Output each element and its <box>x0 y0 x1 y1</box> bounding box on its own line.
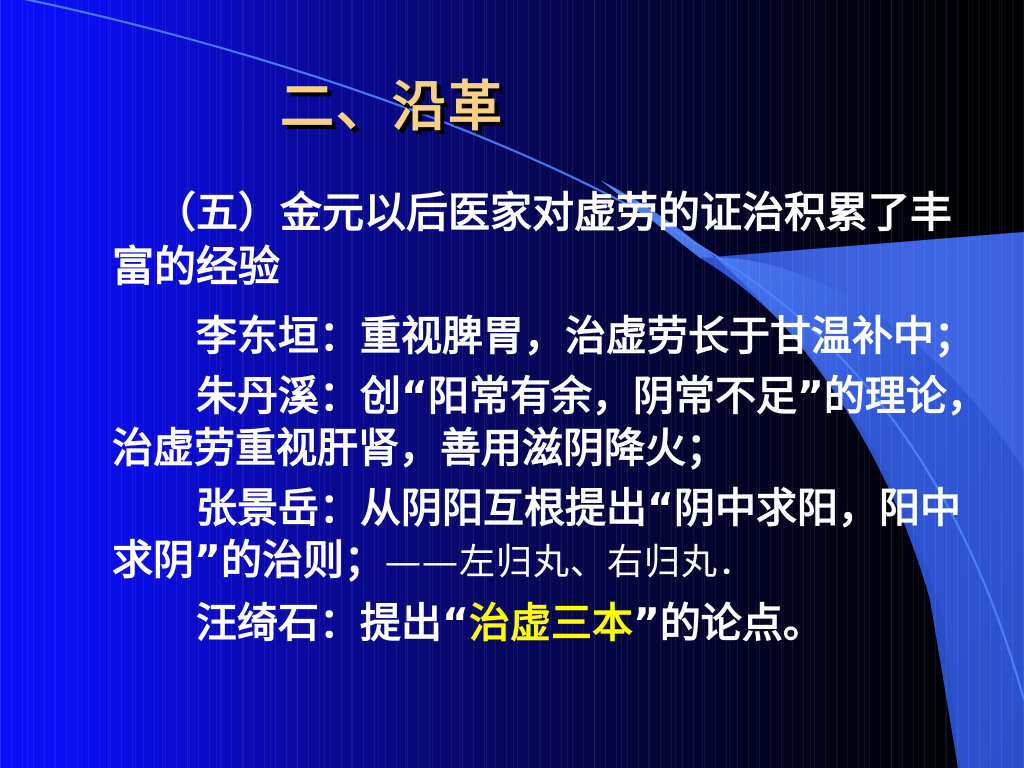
wang-qishi-suffix-text: ”的论点。 <box>633 599 824 647</box>
slide-body: （五）金元以后医家对虚劳的证治积累了丰富的经验 李东垣：重视脾胃，治虚劳长于甘温… <box>112 186 992 657</box>
body-paragraph-zhu-danxi: 朱丹溪：创“阳常有余，阴常不足”的理论，治虚劳重视肝肾，善用滋阴降火； <box>112 370 992 474</box>
wang-qishi-prefix-text: 汪绮石：提出“ <box>196 599 469 647</box>
presentation-slide: 二、沿革 （五）金元以后医家对虚劳的证治积累了丰富的经验 李东垣：重视脾胃，治虚… <box>0 0 1024 768</box>
slide-content: 二、沿革 （五）金元以后医家对虚劳的证治积累了丰富的经验 李东垣：重视脾胃，治虚… <box>0 0 1024 768</box>
body-paragraph-intro: （五）金元以后医家对虚劳的证治积累了丰富的经验 <box>112 186 992 294</box>
body-paragraph-zhang-jingyue: 张景岳：从阴阳互根提出“阴中求阳，阳中求阴”的治则；——左归丸、右归丸． <box>112 482 992 589</box>
page-title: 二、沿革 <box>0 62 1024 141</box>
wang-qishi-highlight-term: 治虚三本 <box>469 599 633 647</box>
zhang-jingyue-formula-note: ——左归丸、右归丸． <box>385 542 755 583</box>
body-paragraph-wang-qishi: 汪绮石：提出“治虚三本”的论点。 <box>112 597 992 649</box>
body-paragraph-li-dongyuan: 李东垣：重视脾胃，治虚劳长于甘温补中； <box>112 310 992 362</box>
